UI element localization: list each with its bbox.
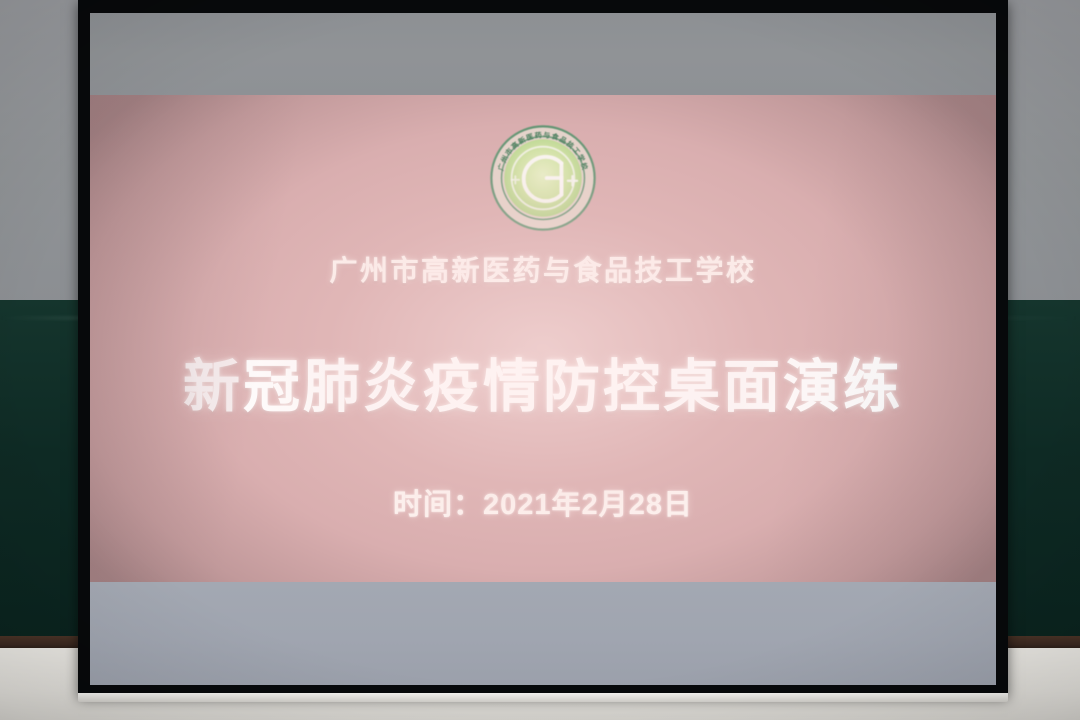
school-crest-emblem: 广州市高新医药与食品技工学校 GUANGZHOU HIGH-TECH MEDIC…	[479, 119, 607, 237]
classroom-scene: 广州市高新医药与食品技工学校 GUANGZHOU HIGH-TECH MEDIC…	[0, 0, 1080, 720]
slide-main-title: 新冠肺炎疫情防控桌面演练	[183, 341, 903, 423]
screen-band-top	[90, 13, 996, 95]
slide-main-title-lead: 新	[183, 355, 243, 419]
projection-screen-surface: 广州市高新医药与食品技工学校 GUANGZHOU HIGH-TECH MEDIC…	[90, 13, 996, 685]
projection-screen-frame: 广州市高新医药与食品技工学校 GUANGZHOU HIGH-TECH MEDIC…	[78, 0, 1008, 696]
slide-main-title-rest: 冠肺炎疫情防控桌面演练	[243, 355, 903, 419]
slide-content: 广州市高新医药与食品技工学校 GUANGZHOU HIGH-TECH MEDIC…	[90, 95, 996, 582]
slide-school-name: 广州市高新医药与食品技工学校	[329, 249, 756, 289]
projected-slide: 广州市高新医药与食品技工学校 GUANGZHOU HIGH-TECH MEDIC…	[90, 95, 996, 582]
screen-band-bottom	[90, 582, 996, 685]
slide-date-line: 时间：2021年2月28日	[393, 481, 693, 523]
